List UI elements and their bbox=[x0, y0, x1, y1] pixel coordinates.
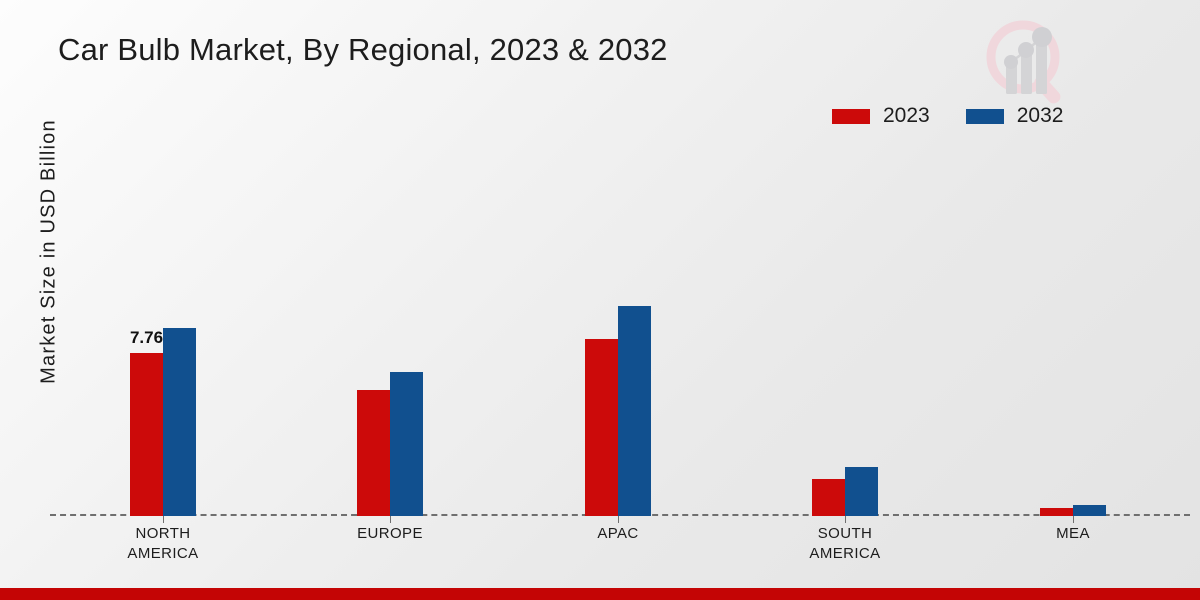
bar-group-north-america: 7.76 NORTH AMERICA bbox=[125, 140, 201, 516]
x-label-europe: EUROPE bbox=[357, 524, 423, 544]
bar-europe-2032[interactable] bbox=[390, 372, 423, 516]
bar-north-america-2023[interactable]: 7.76 bbox=[130, 353, 163, 516]
magnifier-bar-chart-icon bbox=[975, 12, 1079, 106]
bar-apac-2023[interactable] bbox=[585, 339, 618, 516]
x-label-apac-line1: APAC bbox=[597, 524, 638, 544]
legend-label-2023: 2023 bbox=[883, 104, 930, 128]
legend-item-2032[interactable]: 2032 bbox=[966, 104, 1064, 128]
x-label-north-america-line1: NORTH bbox=[127, 524, 198, 544]
bar-south-america-2023[interactable] bbox=[812, 479, 845, 516]
x-label-south-america-line1: SOUTH bbox=[809, 524, 880, 544]
x-tick-europe bbox=[390, 516, 391, 523]
plot-area: 7.76 NORTH AMERICA EUROPE APAC bbox=[50, 140, 1190, 516]
x-label-mea-line1: MEA bbox=[1056, 524, 1090, 544]
x-label-north-america-line2: AMERICA bbox=[127, 544, 198, 564]
x-tick-south-america bbox=[845, 516, 846, 523]
legend-swatch-2032 bbox=[966, 109, 1004, 124]
footer-stripe bbox=[0, 588, 1200, 600]
legend-item-2023[interactable]: 2023 bbox=[832, 104, 930, 128]
bar-apac-2032[interactable] bbox=[618, 306, 651, 516]
legend-swatch-2023 bbox=[832, 109, 870, 124]
chart-legend: 2023 2032 bbox=[832, 104, 1063, 128]
bar-value-north-america-2023: 7.76 bbox=[130, 328, 163, 348]
page-title: Car Bulb Market, By Regional, 2023 & 203… bbox=[58, 32, 668, 68]
bar-mea-2023[interactable] bbox=[1040, 508, 1073, 516]
x-tick-north-america bbox=[163, 516, 164, 523]
bar-europe-2023[interactable] bbox=[357, 390, 390, 516]
x-label-south-america: SOUTH AMERICA bbox=[809, 524, 880, 564]
x-label-south-america-line2: AMERICA bbox=[809, 544, 880, 564]
bar-group-europe: EUROPE bbox=[352, 140, 428, 516]
bar-group-mea: MEA bbox=[1035, 140, 1111, 516]
bar-south-america-2032[interactable] bbox=[845, 467, 878, 516]
x-label-mea: MEA bbox=[1056, 524, 1090, 544]
bar-mea-2032[interactable] bbox=[1073, 505, 1106, 516]
x-label-apac: APAC bbox=[597, 524, 638, 544]
x-tick-apac bbox=[618, 516, 619, 523]
bar-group-apac: APAC bbox=[580, 140, 656, 516]
x-label-europe-line1: EUROPE bbox=[357, 524, 423, 544]
x-label-north-america: NORTH AMERICA bbox=[127, 524, 198, 564]
chart-container: Car Bulb Market, By Regional, 2023 & 203… bbox=[0, 0, 1200, 600]
bar-group-south-america: SOUTH AMERICA bbox=[807, 140, 883, 516]
legend-label-2032: 2032 bbox=[1017, 104, 1064, 128]
bar-north-america-2032[interactable] bbox=[163, 328, 196, 516]
x-tick-mea bbox=[1073, 516, 1074, 523]
